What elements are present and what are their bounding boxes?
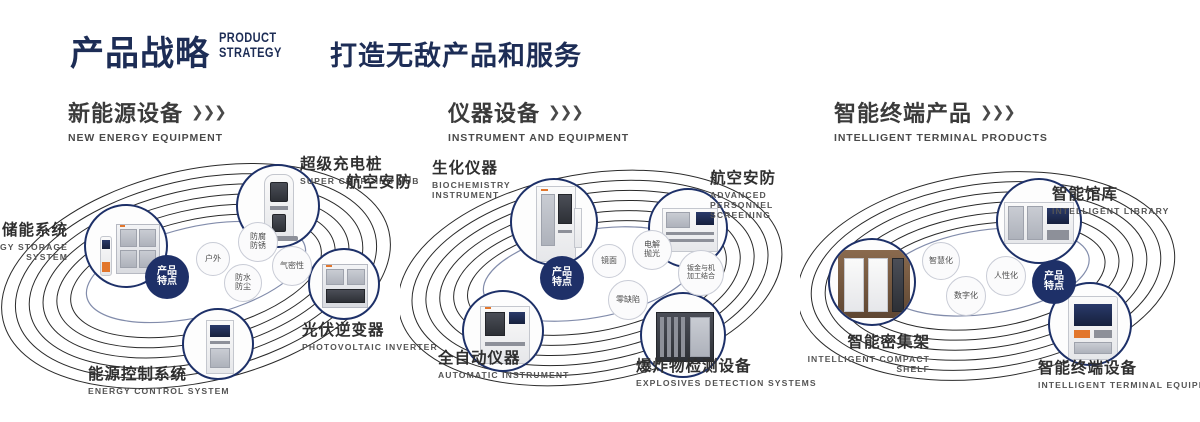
feature-badge-line2: 特点 [1044, 282, 1064, 293]
product-label-cn: 航空安防 [312, 170, 412, 192]
page-title-english-line2: STRATEGY [219, 45, 293, 60]
group-intelligent-terminal: 产品 特点 智慧化 人性化 数字化 智能馆库 INTELLIGENT LIBRA… [800, 150, 1200, 410]
product-label-cn: 航空安防 [710, 166, 806, 188]
product-label-en: INTELLIGENT COMPACTSHELF [730, 354, 930, 374]
keyword-label: 防水防尘 [233, 274, 253, 292]
page-slogan: 打造无敌产品和服务 [330, 34, 582, 73]
product-label-energy-storage: 储能系统 ENERGY STORAGESYSTEM [0, 218, 68, 262]
product-label-en: ADVANCED PERSONNELSCREENING [710, 190, 806, 220]
feature-badge-intelligent-terminal: 产品 特点 [1032, 260, 1076, 304]
keyword-label: 钣金与机加工结合 [685, 265, 717, 280]
product-label-en: INTELLIGENT TERMINAL EQUIPMENT [1038, 380, 1200, 390]
product-label-automatic-instrument: 全自动仪器 AUTOMATIC INSTRUMENT [438, 346, 569, 380]
product-label-en: ENERGY STORAGESYSTEM [0, 242, 68, 262]
section-title-en: INSTRUMENT AND EQUIPMENT [448, 132, 629, 144]
keyword-label: 人性化 [993, 272, 1019, 281]
page-title-english-line1: PRODUCT [219, 30, 293, 45]
product-label-en: BIOCHEMISTRYINSTRUMENT [432, 180, 518, 200]
keyword-bubble-mirror-finish: 镜面 [592, 244, 626, 278]
keyword-bubble-electropolishing: 电解抛光 [632, 230, 672, 270]
keyword-bubble-humanized: 人性化 [986, 256, 1026, 296]
keyword-label: 户外 [205, 255, 221, 264]
keyword-label: 智慧化 [928, 257, 954, 266]
product-label-cn: 全自动仪器 [438, 346, 569, 368]
keyword-bubble-waterproof: 防水防尘 [224, 264, 262, 302]
product-label-intelligent-compact-shelf: 智能密集架 INTELLIGENT COMPACTSHELF [730, 330, 930, 374]
keyword-bubble-sheetmetal-machining: 钣金与机加工结合 [678, 250, 724, 296]
section-heading-instrument: 仪器设备❯❯❯ INSTRUMENT AND EQUIPMENT [448, 96, 629, 144]
product-label-cn: 储能系统 [0, 218, 68, 240]
section-title-cn: 智能终端产品 [834, 96, 972, 128]
keyword-label: 零缺陷 [615, 296, 641, 305]
product-label-intelligent-terminal-equipment: 智能终端设备 INTELLIGENT TERMINAL EQUIPMENT [1038, 356, 1200, 390]
page-title: 产品战略 [70, 26, 210, 75]
product-label-en: ENERGY CONTROL SYSTEM [88, 386, 230, 396]
feature-badge-new-energy: 产品 特点 [145, 255, 189, 299]
product-label-biochemistry-instrument: 生化仪器 BIOCHEMISTRYINSTRUMENT [432, 156, 518, 200]
compact-shelf-icon [830, 240, 914, 324]
page-title-english: PRODUCT STRATEGY [219, 30, 309, 60]
product-label-energy-control-system: 能源控制系统 ENERGY CONTROL SYSTEM [88, 362, 230, 396]
biochemistry-analyzer-icon [512, 180, 596, 264]
section-title-cn: 新能源设备 [68, 96, 183, 128]
keyword-bubble-zero-defect: 零缺陷 [608, 280, 648, 320]
product-label-cn: 智能馆库 [1052, 182, 1170, 204]
keyword-label: 防腐防锈 [247, 233, 269, 251]
product-strategy-infographic: 产品战略 PRODUCT STRATEGY 打造无敌产品和服务 新能源设备❯❯❯… [0, 0, 1200, 422]
product-label-cn: 智能终端设备 [1038, 356, 1200, 378]
product-label-advanced-personnel-screening: 航空安防 ADVANCED PERSONNELSCREENING [710, 166, 806, 220]
section-title-cn: 仪器设备 [448, 96, 540, 128]
keyword-bubble-airtightness: 气密性 [272, 246, 312, 286]
feature-badge-line2: 特点 [157, 277, 177, 288]
product-label-aviation-security-overlap: 航空安防 [312, 170, 412, 192]
keyword-label: 电解抛光 [641, 241, 663, 259]
keyword-label: 镜面 [601, 257, 617, 266]
product-label-en: EXPLOSIVES DETECTION SYSTEMS [636, 378, 817, 388]
keyword-bubble-digitized: 数字化 [946, 276, 986, 316]
product-label-cn: 生化仪器 [432, 156, 518, 178]
feature-badge-line2: 特点 [552, 278, 572, 289]
product-label-en: AUTOMATIC INSTRUMENT [438, 370, 569, 380]
product-label-intelligent-library: 智能馆库 INTELLIGENT LIBRARY [1052, 182, 1170, 216]
chevron-right-icon: ❯❯❯ [548, 103, 583, 121]
product-label-cn: 智能密集架 [730, 330, 930, 352]
chevron-right-icon: ❯❯❯ [191, 103, 226, 121]
product-bubble-biochemistry-instrument[interactable] [510, 178, 598, 266]
page-header: 产品战略 PRODUCT STRATEGY 打造无敌产品和服务 [0, 0, 1200, 88]
section-title-en: INTELLIGENT TERMINAL PRODUCTS [834, 132, 1048, 144]
product-label-en: INTELLIGENT LIBRARY [1052, 206, 1170, 216]
product-label-cn: 能源控制系统 [88, 362, 230, 384]
keyword-label: 气密性 [279, 262, 305, 271]
section-heading-new-energy: 新能源设备❯❯❯ NEW ENERGY EQUIPMENT [68, 96, 226, 144]
chevron-right-icon: ❯❯❯ [980, 103, 1015, 121]
feature-badge-instrument: 产品 特点 [540, 256, 584, 300]
keyword-bubble-anti-corrosion: 防腐防锈 [238, 222, 278, 262]
product-bubble-photovoltaic-inverter[interactable] [308, 248, 380, 320]
section-heading-intelligent-terminal: 智能终端产品❯❯❯ INTELLIGENT TERMINAL PRODUCTS [834, 96, 1048, 144]
product-bubble-intelligent-compact-shelf[interactable] [828, 238, 916, 326]
keyword-bubble-intelligent: 智慧化 [922, 242, 960, 280]
keyword-label: 数字化 [953, 292, 979, 301]
section-title-en: NEW ENERGY EQUIPMENT [68, 132, 226, 144]
keyword-bubble-outdoor: 户外 [196, 242, 230, 276]
pv-inverter-cabinet-icon [310, 250, 378, 318]
